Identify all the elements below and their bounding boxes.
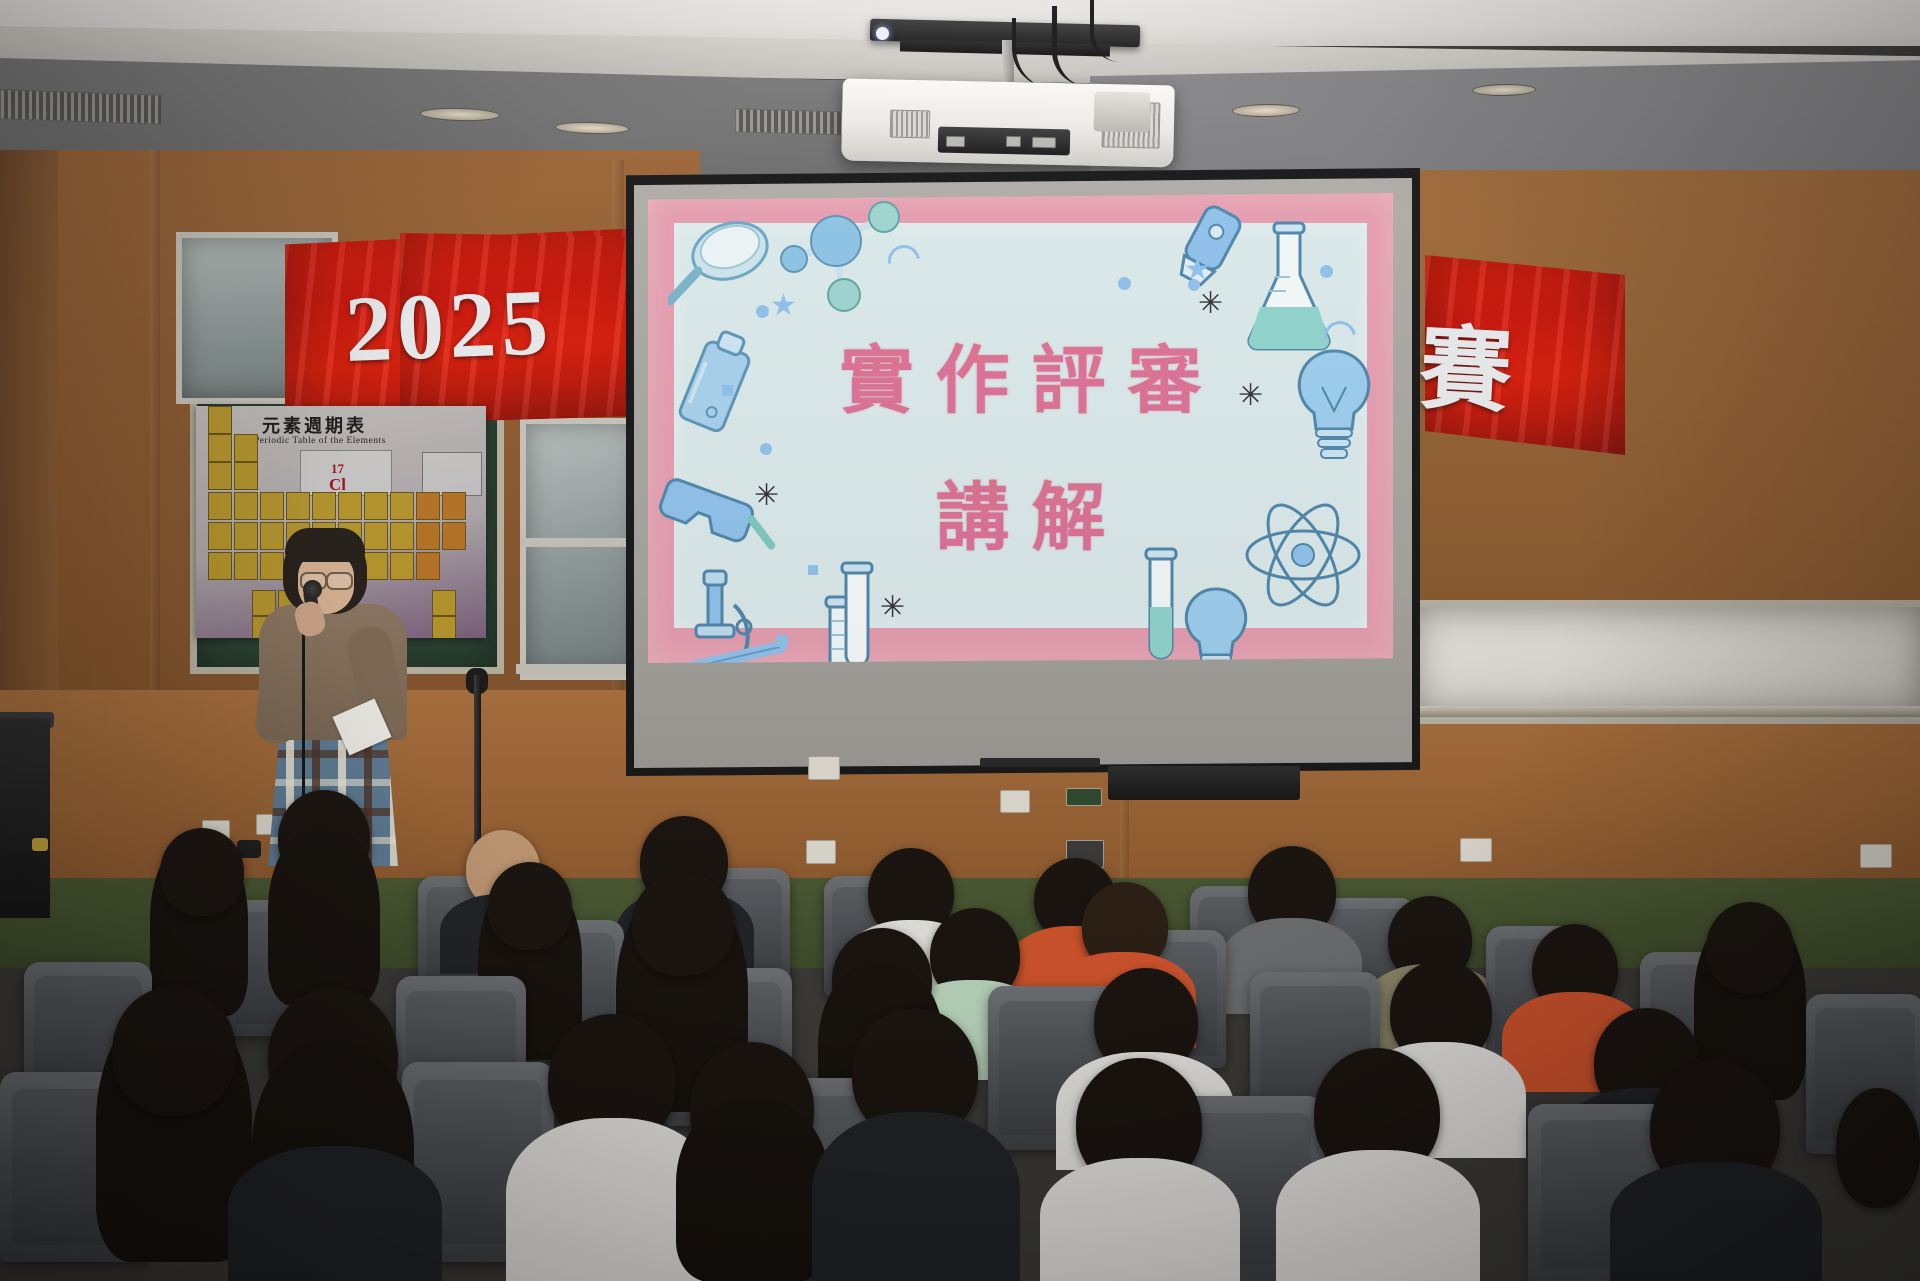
wall-speaker [1108, 766, 1300, 800]
audience-head [488, 862, 572, 950]
microphone-head-icon [303, 580, 322, 599]
banner-right-text: 賽 [1417, 294, 1516, 432]
wall-socket-6 [1860, 844, 1892, 868]
projector-vent-left [890, 110, 931, 139]
star-decoration-1: ★ [770, 291, 797, 321]
sparkle-icon-4: ✳ [1198, 289, 1223, 319]
chalk-tray-right [1404, 706, 1920, 717]
projector-port-vga [1032, 137, 1056, 149]
audience-shoulders [1276, 1150, 1480, 1281]
projector-lens-icon [1094, 91, 1151, 132]
audience-head [1706, 902, 1794, 994]
audience-shoulders [228, 1146, 442, 1281]
audience-head [632, 872, 734, 976]
wall-socket-3 [806, 840, 836, 864]
wall-socket-center [808, 756, 840, 780]
audience-head [112, 986, 236, 1116]
presenter-fringe [285, 528, 365, 562]
poster-title-zh: 元素週期表 [262, 412, 367, 438]
wall-socket-5 [1460, 838, 1492, 862]
projected-slide: ★ ✳ ✳ ★ ✳ ✳ 實作評審 講解 [648, 193, 1393, 663]
ceiling-vent-center [735, 108, 857, 135]
sparkle-icon-2: ✳ [880, 593, 905, 623]
dot-decoration-2 [760, 443, 772, 455]
slide-title-line-2: 講解 [648, 458, 1393, 565]
dot-decoration-1 [756, 305, 769, 318]
presenter-glasses-right [326, 572, 353, 590]
wall-data-port [1066, 788, 1102, 806]
audience-shoulders [1040, 1158, 1240, 1281]
microscope-icon [666, 565, 816, 663]
poster-title-en: Periodic Table of the Elements [254, 436, 386, 446]
lightbulb-icon-2 [1176, 583, 1256, 663]
wall-socket-4 [1000, 790, 1030, 813]
audience-shoulders [812, 1112, 1020, 1281]
screen-bottom-weight-bar [980, 758, 1100, 767]
square-decoration-3 [808, 565, 818, 575]
audience-shoulders [1610, 1162, 1822, 1281]
dot-decoration-3 [1320, 265, 1333, 278]
projector-port-usb [1006, 136, 1021, 147]
window-mullion [520, 538, 632, 547]
sparkle-icon-3: ★ [1184, 255, 1211, 285]
wall-seam-1 [150, 150, 160, 710]
projector-port-hdmi [946, 136, 965, 147]
banner-year-text: 2025 [343, 268, 555, 384]
audience-hair-long [268, 826, 380, 1006]
audience-head [160, 828, 244, 916]
square-decoration-2 [776, 635, 788, 647]
slide-title-line-1: 實作評審 [648, 321, 1393, 428]
dot-decoration-4 [1118, 277, 1131, 290]
ceiling-vent-left [0, 89, 162, 125]
audience-head [1836, 1088, 1920, 1208]
audience-hair-long [676, 1098, 830, 1281]
window-sill [516, 664, 638, 674]
lecture-hall-photo: 2025 賽 元素週期表 Periodic Table of the Eleme… [0, 0, 1920, 1281]
projector-status-led-icon [876, 27, 889, 40]
lectern-knob [32, 838, 48, 851]
window-center [520, 418, 644, 680]
lectern [0, 718, 50, 918]
